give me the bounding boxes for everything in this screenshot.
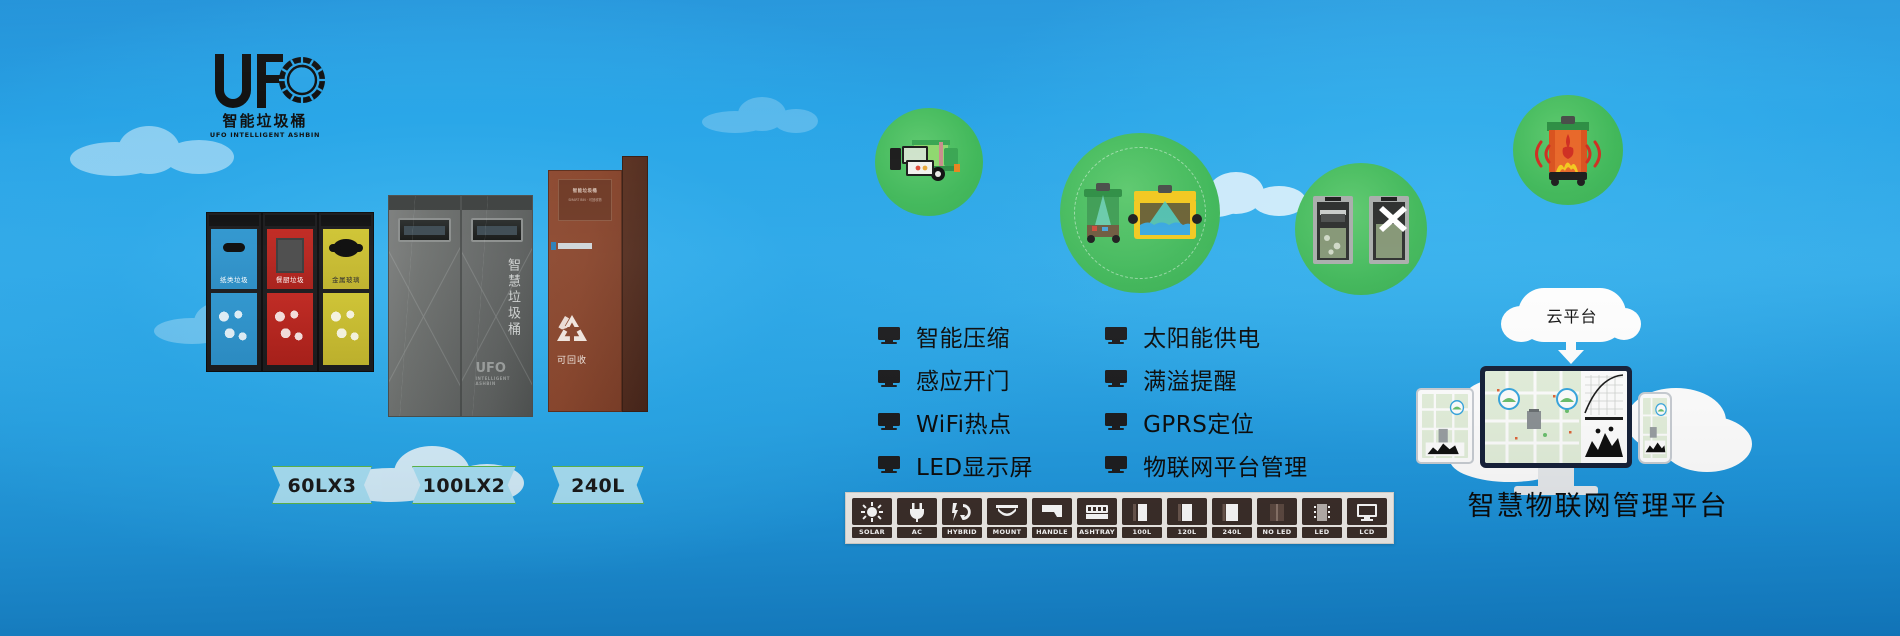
option-label: NO LED	[1257, 527, 1297, 538]
no-led-icon	[1257, 498, 1297, 525]
cloud-decoration	[1662, 416, 1752, 472]
feature-label: WiFi热点	[916, 405, 1012, 439]
ashtray-icon	[1077, 498, 1117, 525]
feature-label: 太阳能供电	[1143, 319, 1261, 353]
bin-240l-icon	[1212, 498, 1252, 525]
feature-circle-fire-alarm	[1513, 95, 1623, 205]
monitor-icon	[1105, 327, 1127, 344]
option-120l: 120L	[1167, 498, 1207, 538]
tablet-screen	[1422, 394, 1468, 458]
map-dashboard-icon	[1422, 394, 1468, 458]
map-dashboard-icon	[1643, 398, 1667, 458]
option-hybrid: HYBRID	[942, 498, 982, 538]
feature-list: 智能压缩 感应开门 WiFi热点 LED显示屏 太阳能供电 满溢提醒	[878, 322, 1308, 478]
bin-100l-icon	[1122, 498, 1162, 525]
feature-item: 物联网平台管理	[1105, 451, 1308, 478]
feature-item: 太阳能供电	[1105, 322, 1308, 349]
feature-column-left: 智能压缩 感应开门 WiFi热点 LED显示屏	[878, 322, 1033, 478]
bin-panel-bottom	[267, 293, 313, 365]
option-240l: 240L	[1212, 498, 1252, 538]
option-mount: MOUNT	[987, 498, 1027, 538]
option-lcd: LCD	[1347, 498, 1387, 538]
phone-device	[1638, 392, 1672, 464]
option-ac: AC	[897, 498, 937, 538]
cloud-platform-label: 云平台	[1518, 288, 1626, 342]
feature-item: LED显示屏	[878, 451, 1033, 478]
product-double-smart-bin: 智慧垃圾桶 UFO INTELLIGENT ASHBIN	[388, 195, 533, 417]
option-label: LCD	[1347, 527, 1387, 538]
feature-item: 满溢提醒	[1105, 365, 1308, 392]
lcd-icon	[1347, 498, 1387, 525]
bin-label-strip	[558, 243, 592, 249]
desktop-monitor	[1480, 366, 1632, 468]
slot-oval-icon	[223, 243, 245, 252]
option-solar: SOLAR	[852, 498, 892, 538]
slot-square-icon	[276, 238, 304, 273]
bin-signboard: 智能垃圾桶 SMART BIN · 可回收物	[558, 179, 612, 221]
ufo-logo-icon	[205, 52, 325, 110]
smart-bin-left	[388, 195, 461, 417]
bin-panel-label: 金属玻璃	[323, 274, 369, 284]
option-led: LED	[1302, 498, 1342, 538]
handle-icon	[1032, 498, 1072, 525]
capacity-badge-100lx2: 100LX2	[412, 466, 516, 504]
fleet-monitoring-icon	[886, 132, 972, 192]
fill-level-sensor-icon	[1076, 175, 1204, 251]
bin-lid	[321, 215, 371, 226]
monitor-icon	[878, 413, 900, 430]
monitor-icon	[878, 456, 900, 473]
product-brown-recycle-bin: 智能垃圾桶 SMART BIN · 可回收物 可回收	[548, 170, 648, 412]
brand-logo: 智能垃圾桶 UFO INTELLIGENT ASHBIN	[205, 52, 325, 148]
plug-icon	[897, 498, 937, 525]
bin-column-paper: 纸类垃圾	[206, 212, 262, 372]
feature-column-right: 太阳能供电 满溢提醒 GPRS定位 物联网平台管理	[1105, 322, 1308, 478]
cloud-decoration	[700, 95, 820, 135]
feature-item: GPRS定位	[1105, 408, 1308, 435]
slot-round-icon	[333, 239, 359, 257]
feature-item: WiFi热点	[878, 408, 1033, 435]
bin-sign-title: 智能垃圾桶	[559, 188, 611, 194]
feature-circle-fleet-monitoring	[875, 108, 983, 216]
monitor-icon	[878, 327, 900, 344]
monitor-icon	[1105, 370, 1127, 387]
monitor-screen	[1485, 371, 1627, 463]
phone-screen	[1643, 398, 1667, 458]
feature-label: 物联网平台管理	[1143, 448, 1308, 482]
option-label: 100L	[1122, 527, 1162, 538]
bin-column-kitchen: 餐厨垃圾	[262, 212, 318, 372]
marketing-banner: 智能垃圾桶 UFO INTELLIGENT ASHBIN 纸类垃圾 餐厨垃圾	[0, 0, 1900, 636]
product-three-compartment-bin: 纸类垃圾 餐厨垃圾 金属玻璃	[206, 212, 376, 372]
feature-circle-compaction-compare	[1295, 163, 1427, 295]
bin-brand-mark-text: UFO	[476, 361, 507, 376]
recycle-mark: 可回收	[549, 313, 595, 366]
wall-mount-icon	[987, 498, 1027, 525]
cloud-platform-title: 智慧物联网管理平台	[1398, 484, 1798, 523]
option-100l: 100L	[1122, 498, 1162, 538]
waste-pictogram-icon	[272, 301, 308, 353]
cloud-platform-illustration: 云平台	[1398, 288, 1798, 518]
tablet-device	[1416, 388, 1474, 464]
bin-side-panel	[622, 156, 648, 412]
bin-panel-top: 金属玻璃	[323, 229, 369, 289]
bin-side-text: 智慧垃圾桶	[506, 258, 522, 338]
fire-alarm-icon	[1525, 112, 1611, 188]
monitor-icon	[878, 370, 900, 387]
option-label: ASHTRAY	[1077, 527, 1117, 538]
feature-circle-fill-level-sensor	[1060, 133, 1220, 293]
bin-brand-mark-sub: INTELLIGENT ASHBIN	[476, 376, 533, 386]
bin-lid	[209, 215, 259, 226]
feature-item: 智能压缩	[878, 322, 1033, 349]
hybrid-power-icon	[942, 498, 982, 525]
recycle-label: 可回收	[549, 353, 595, 366]
bin-lid	[265, 215, 315, 226]
option-ashtray: ASHTRAY	[1077, 498, 1117, 538]
bin-front-panel: 智能垃圾桶 SMART BIN · 可回收物 可回收	[548, 170, 622, 412]
waste-pictogram-icon	[328, 301, 364, 353]
bin-sign-sub: SMART BIN · 可回收物	[559, 197, 611, 202]
option-label: LED	[1302, 527, 1342, 538]
bin-panel-top: 纸类垃圾	[211, 229, 257, 289]
feature-label: 满溢提醒	[1143, 362, 1237, 396]
surface-reflection	[389, 196, 460, 416]
platform-dashboard-icon	[1485, 371, 1627, 463]
monitor-icon	[1105, 456, 1127, 473]
brand-logo-en: UFO INTELLIGENT ASHBIN	[205, 131, 325, 139]
option-handle: HANDLE	[1032, 498, 1072, 538]
recycle-icon	[553, 313, 591, 349]
compaction-compare-icon	[1309, 190, 1413, 268]
brand-logo-cn: 智能垃圾桶	[205, 110, 325, 131]
smart-bin-right: 智慧垃圾桶 UFO INTELLIGENT ASHBIN	[461, 195, 534, 417]
option-icon-strip: SOLAR AC HYBRID M	[845, 492, 1394, 544]
option-label: SOLAR	[852, 527, 892, 538]
capacity-badge-240l: 240L	[552, 466, 644, 504]
option-label: AC	[897, 527, 937, 538]
bin-120l-icon	[1167, 498, 1207, 525]
bin-panel-label: 纸类垃圾	[211, 274, 257, 284]
option-label: 120L	[1167, 527, 1207, 538]
feature-item: 感应开门	[878, 365, 1033, 392]
option-label: HANDLE	[1032, 527, 1072, 538]
option-no-led: NO LED	[1257, 498, 1297, 538]
waste-pictogram-icon	[216, 301, 252, 353]
option-label: MOUNT	[987, 527, 1027, 538]
cloud-platform-label-text: 云平台	[1546, 303, 1597, 327]
bin-panel-label: 餐厨垃圾	[267, 274, 313, 284]
bin-panel-top: 餐厨垃圾	[267, 229, 313, 289]
feature-label: 智能压缩	[916, 319, 1010, 353]
bin-panel-bottom	[211, 293, 257, 365]
sun-icon	[852, 498, 892, 525]
feature-label: LED显示屏	[916, 448, 1033, 482]
feature-label: 感应开门	[916, 362, 1010, 396]
bin-brand-mark: UFO INTELLIGENT ASHBIN	[476, 361, 533, 386]
bin-panel-bottom	[323, 293, 369, 365]
option-label: 240L	[1212, 527, 1252, 538]
feature-label: GPRS定位	[1143, 405, 1254, 439]
led-icon	[1302, 498, 1342, 525]
bin-column-metal-glass: 金属玻璃	[318, 212, 374, 372]
capacity-badge-60lx3: 60LX3	[272, 466, 372, 504]
monitor-icon	[1105, 413, 1127, 430]
option-label: HYBRID	[942, 527, 982, 538]
